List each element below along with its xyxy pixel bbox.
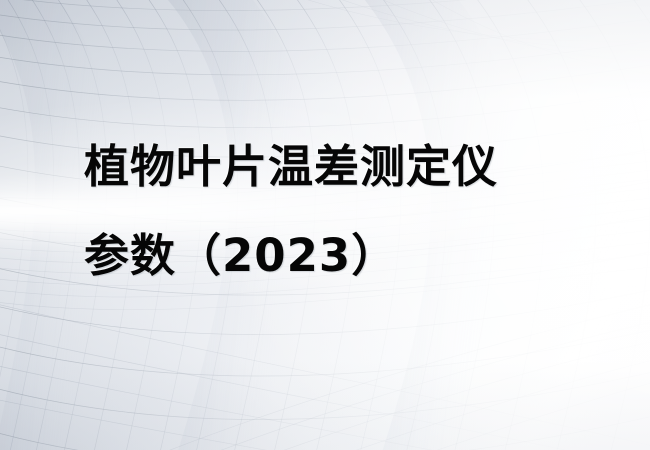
page-title: 植物叶片温差测定仪 参数（2023） [84, 122, 604, 300]
title-line-1: 植物叶片温差测定仪 [84, 122, 604, 211]
slide-canvas: 植物叶片温差测定仪 参数（2023） [0, 0, 650, 450]
title-line-2: 参数（2023） [84, 211, 604, 300]
